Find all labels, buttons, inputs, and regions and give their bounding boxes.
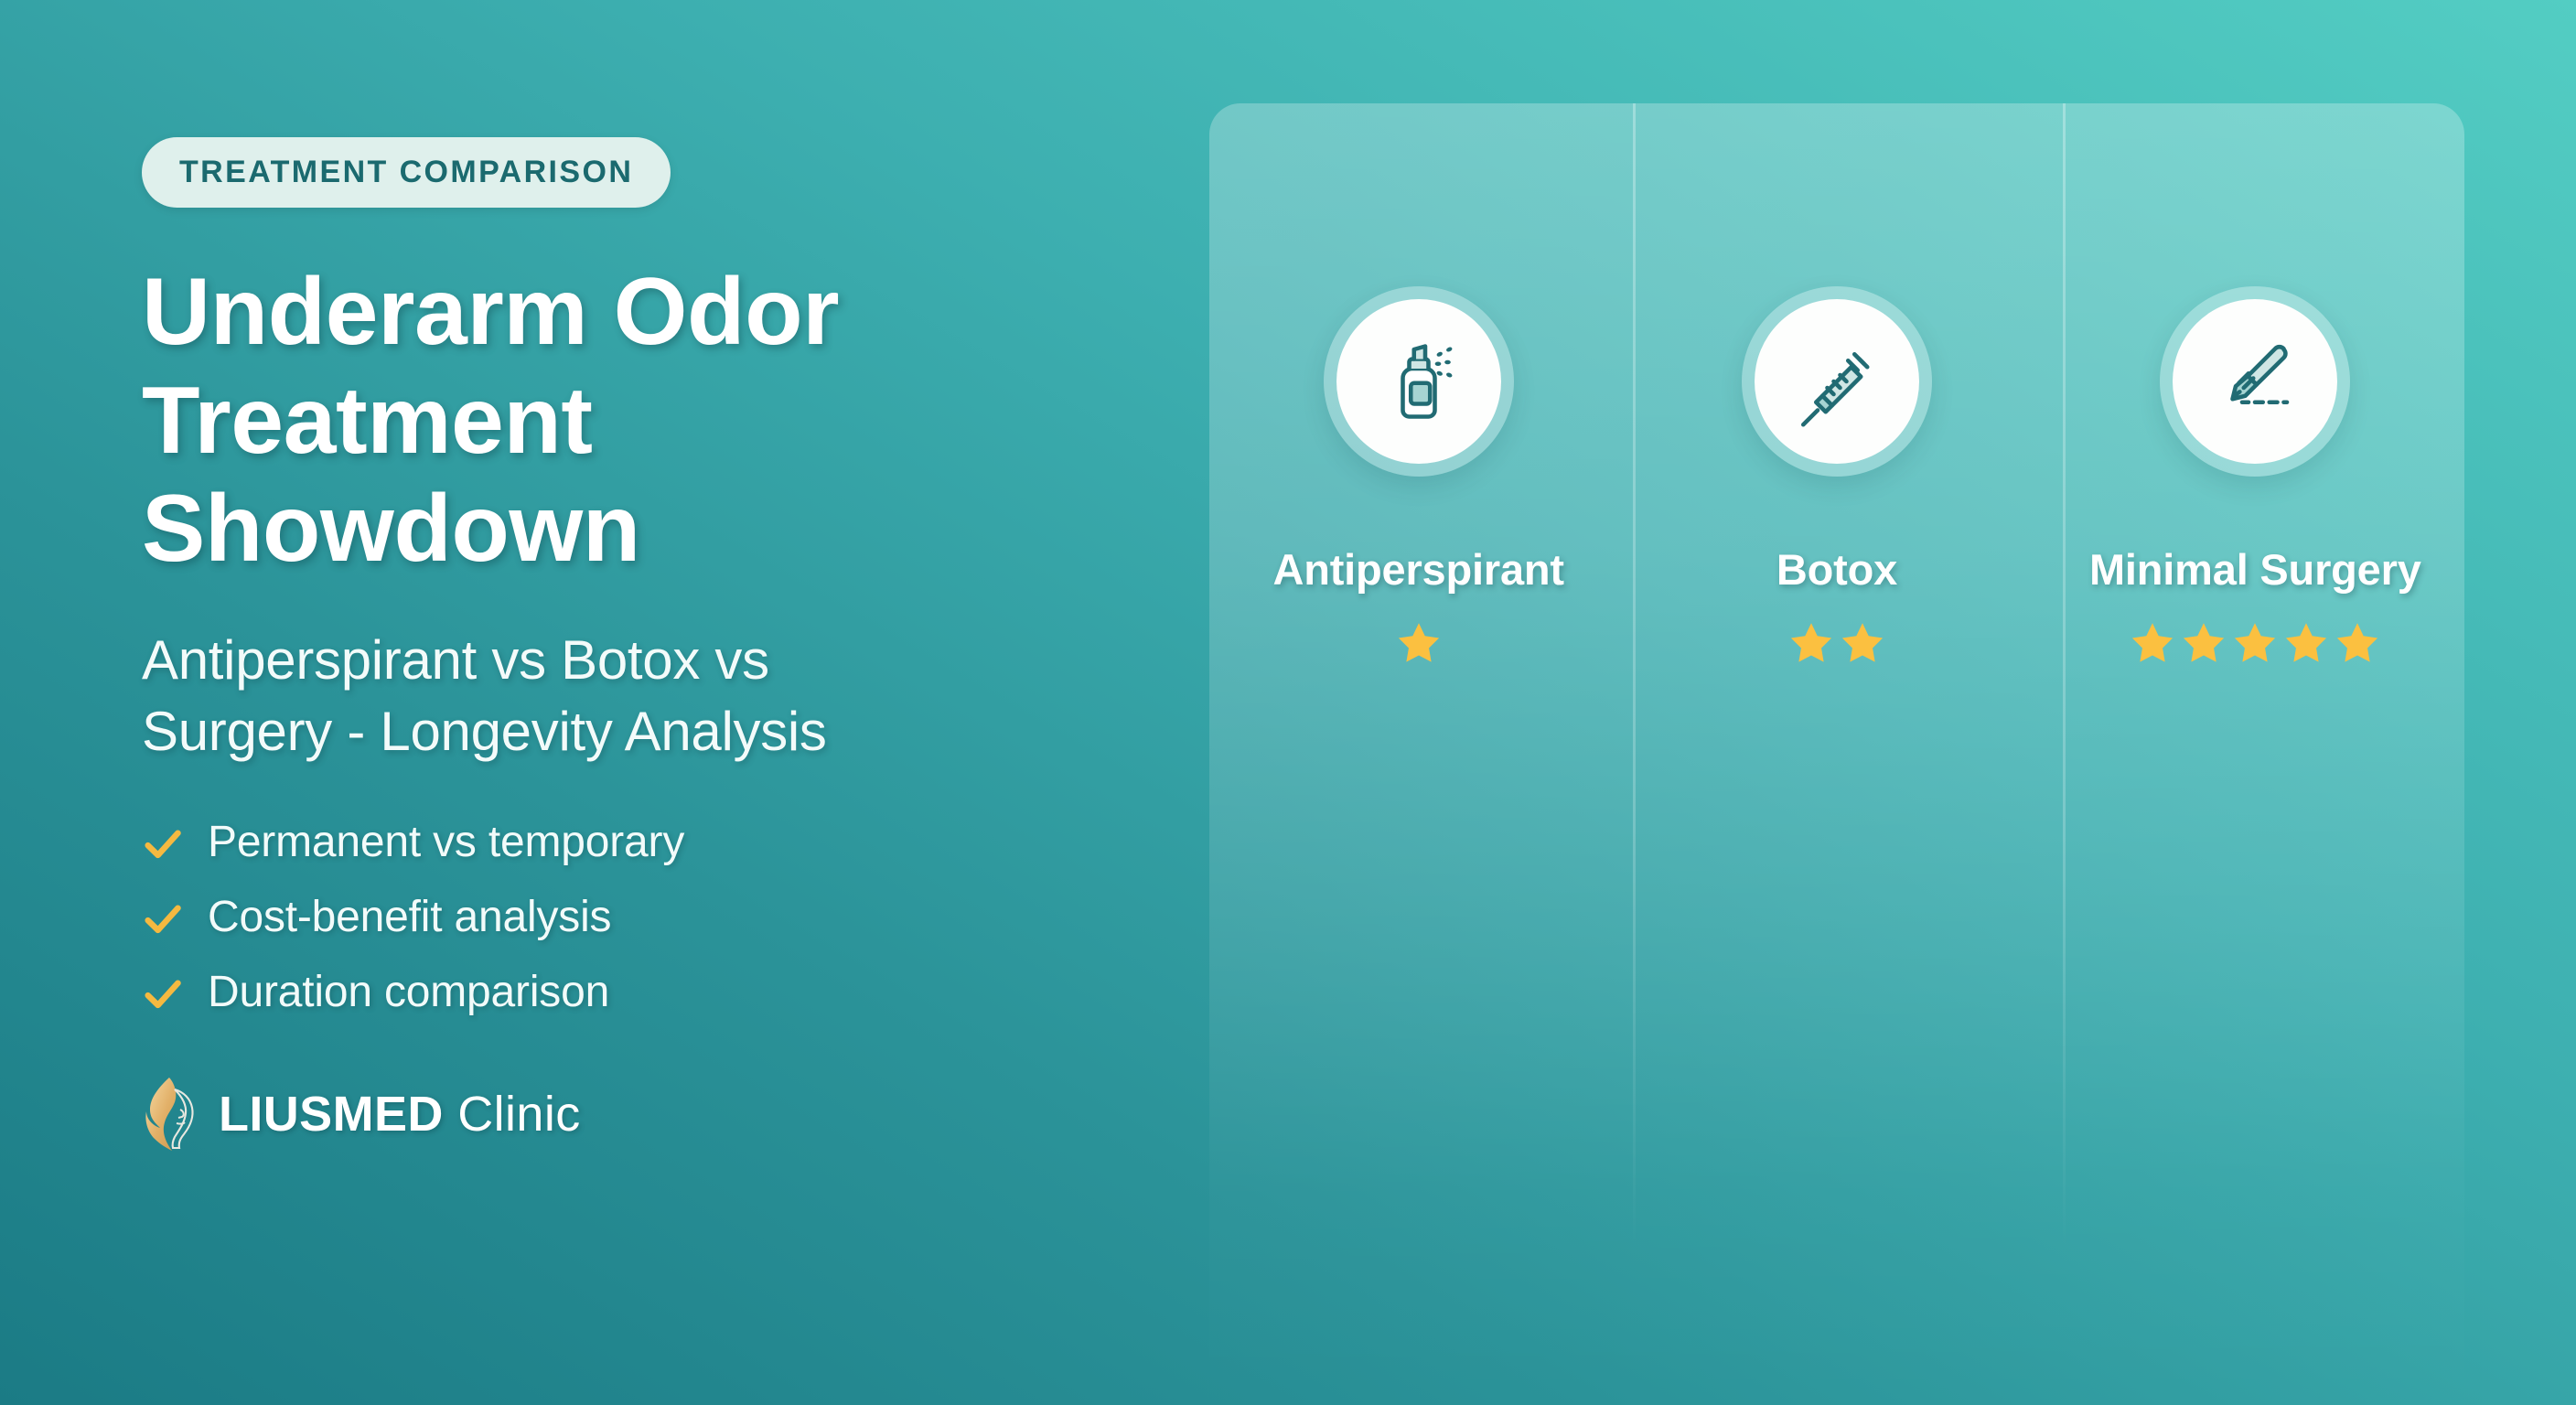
list-item-label: Cost-benefit analysis <box>208 896 611 943</box>
rating-stars <box>2129 617 2381 668</box>
spray-bottle-icon <box>1368 330 1470 433</box>
card-label: Botox <box>1776 548 1897 591</box>
page-title-line-2: Treatment <box>142 367 1157 476</box>
star-icon <box>1395 618 1443 666</box>
flame-face-logo-icon <box>142 1075 199 1153</box>
check-icon <box>142 823 184 865</box>
card-label: Minimal Surgery <box>2089 548 2421 591</box>
syringe-icon <box>1786 330 1888 433</box>
check-icon <box>142 973 184 1015</box>
page-subtitle-line-2: Surgery - Longevity Analysis <box>142 696 1157 767</box>
list-item-label: Duration comparison <box>208 971 609 1018</box>
icon-circle <box>2173 299 2337 464</box>
rating-stars <box>1395 617 1443 668</box>
comparison-card-antiperspirant[interactable]: Antiperspirant <box>1209 103 1627 668</box>
brand-name-secondary: Clinic <box>457 1087 580 1142</box>
list-item: Permanent vs temporary <box>142 819 1157 870</box>
page-title: Underarm Odor Treatment Showdown <box>142 258 1157 584</box>
comparison-panel: Antiperspirant <box>1209 103 2464 1405</box>
list-item-label: Permanent vs temporary <box>208 820 684 868</box>
left-content-column: TREATMENT COMPARISON Underarm Odor Treat… <box>142 137 1157 1153</box>
star-icon <box>2282 618 2330 666</box>
icon-halo <box>1742 286 1932 477</box>
brand-lockup: LIUSMED Clinic <box>142 1075 1157 1153</box>
star-icon <box>1787 618 1835 666</box>
brand-name-primary: LIUSMED <box>219 1087 444 1142</box>
star-icon <box>2231 618 2279 666</box>
comparison-card-botox[interactable]: Botox <box>1627 103 2045 668</box>
page-subtitle: Antiperspirant vs Botox vs Surgery - Lon… <box>142 625 1157 767</box>
infographic-canvas: TREATMENT COMPARISON Underarm Odor Treat… <box>0 0 2576 1405</box>
page-subtitle-line-1: Antiperspirant vs Botox vs <box>142 625 1157 696</box>
comparison-card-row: Antiperspirant <box>1209 103 2464 668</box>
icon-circle <box>1336 299 1501 464</box>
list-item: Duration comparison <box>142 969 1157 1020</box>
star-icon <box>2180 618 2227 666</box>
icon-circle <box>1755 299 1919 464</box>
star-icon <box>2334 618 2381 666</box>
feature-list: Permanent vs temporary Cost-benefit anal… <box>142 819 1157 1020</box>
comparison-card-minimal-surgery[interactable]: Minimal Surgery <box>2046 103 2464 668</box>
page-title-line-3: Showdown <box>142 475 1157 584</box>
star-icon <box>1839 618 1886 666</box>
check-icon <box>142 898 184 940</box>
category-badge: TREATMENT COMPARISON <box>142 137 671 208</box>
brand-name: LIUSMED Clinic <box>219 1086 581 1142</box>
icon-halo <box>2160 286 2350 477</box>
scalpel-icon <box>2204 330 2306 433</box>
icon-halo <box>1324 286 1514 477</box>
rating-stars <box>1787 617 1886 668</box>
list-item: Cost-benefit analysis <box>142 894 1157 945</box>
star-icon <box>2129 618 2176 666</box>
card-label: Antiperspirant <box>1272 548 1563 591</box>
page-title-line-1: Underarm Odor <box>142 258 1157 367</box>
